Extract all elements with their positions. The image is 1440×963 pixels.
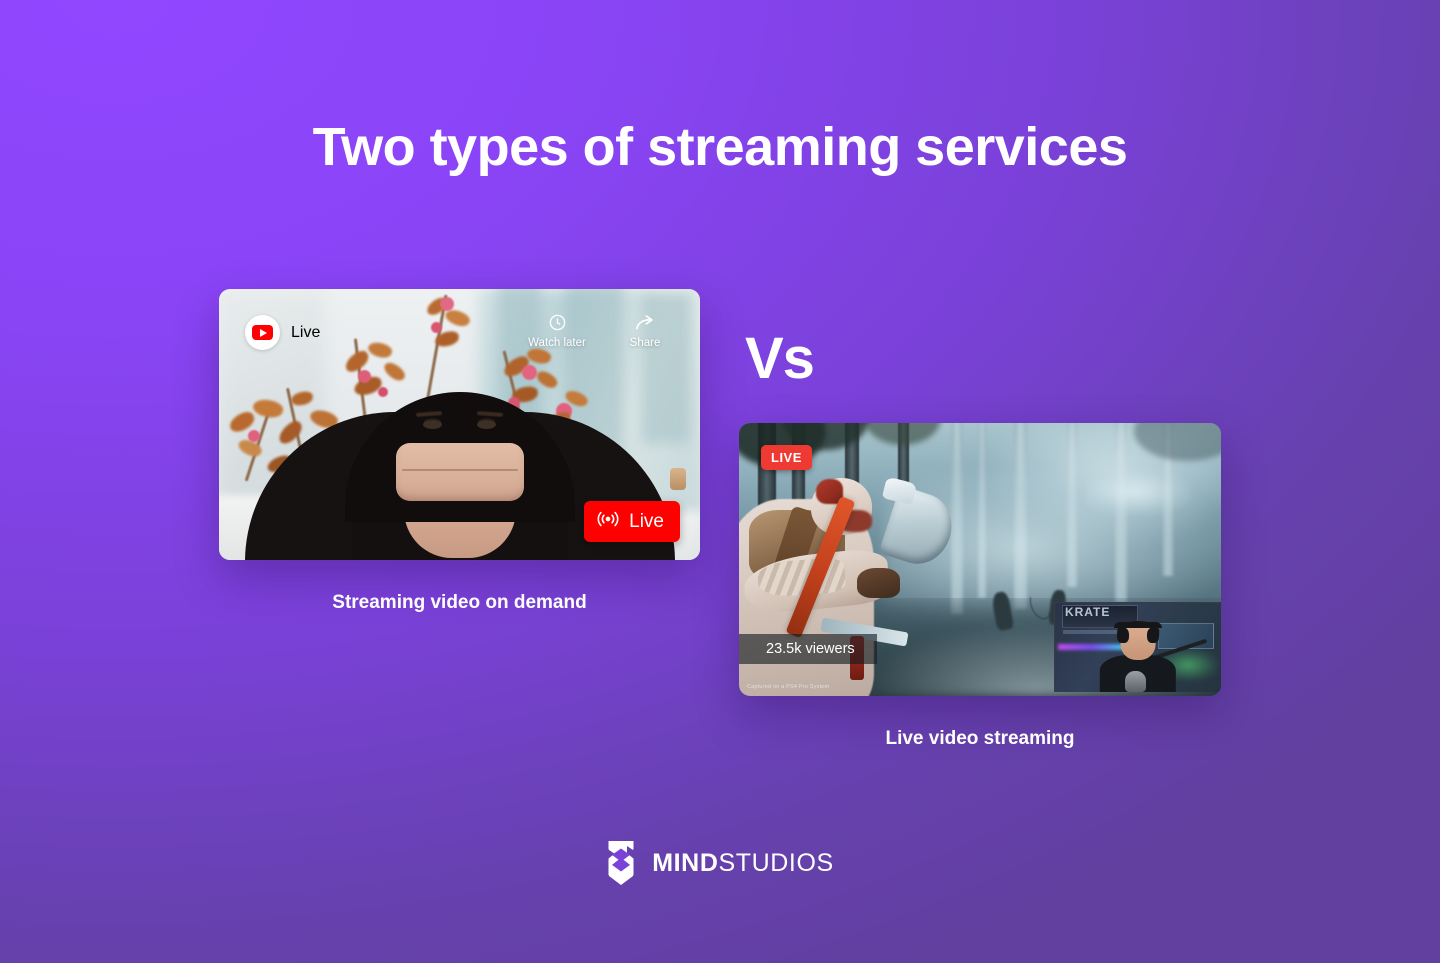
brand-studios: STUDIOS bbox=[718, 849, 833, 877]
brand-mind: MIND bbox=[652, 849, 718, 877]
live-card-caption: Live video streaming bbox=[739, 728, 1221, 750]
clock-icon bbox=[548, 311, 567, 333]
share-label: Share bbox=[630, 337, 661, 349]
brand-wordmark: MINDSTUDIOS bbox=[652, 849, 834, 878]
watch-later-button[interactable]: Watch later bbox=[524, 311, 590, 349]
youtube-icon bbox=[245, 315, 280, 350]
live-status-badge: LIVE bbox=[761, 445, 812, 470]
webcam-poster-text: KRATE bbox=[1065, 605, 1110, 619]
watch-later-label: Watch later bbox=[528, 337, 586, 349]
vod-live-button[interactable]: Live bbox=[584, 501, 680, 542]
capture-note: Captured on a PS4 Pro System bbox=[747, 684, 829, 690]
viewer-count: 23.5k viewers bbox=[739, 634, 877, 664]
share-button[interactable]: Share bbox=[612, 311, 678, 349]
live-stream-card[interactable]: LIVE 23.5k viewers Captured on a PS4 Pro… bbox=[739, 423, 1221, 696]
vs-label: Vs bbox=[745, 325, 814, 392]
microphone-icon bbox=[1125, 671, 1147, 692]
distant-creature bbox=[1086, 467, 1192, 516]
vod-video-card[interactable]: Live Watch later Share bbox=[219, 289, 700, 560]
vod-card-caption: Streaming video on demand bbox=[219, 592, 700, 614]
streamer-webcam-overlay[interactable]: KRATE bbox=[1054, 602, 1221, 692]
vod-live-button-label: Live bbox=[629, 511, 664, 533]
youtube-live-badge[interactable]: Live bbox=[245, 315, 320, 350]
mindstudios-shield-icon bbox=[606, 841, 636, 885]
share-arrow-icon bbox=[635, 311, 656, 333]
page-title: Two types of streaming services bbox=[0, 118, 1440, 177]
vod-action-bar: Watch later Share bbox=[524, 311, 678, 349]
youtube-live-label: Live bbox=[291, 324, 320, 342]
brand-logo: MINDSTUDIOS bbox=[0, 841, 1440, 885]
broadcast-icon bbox=[597, 510, 619, 533]
